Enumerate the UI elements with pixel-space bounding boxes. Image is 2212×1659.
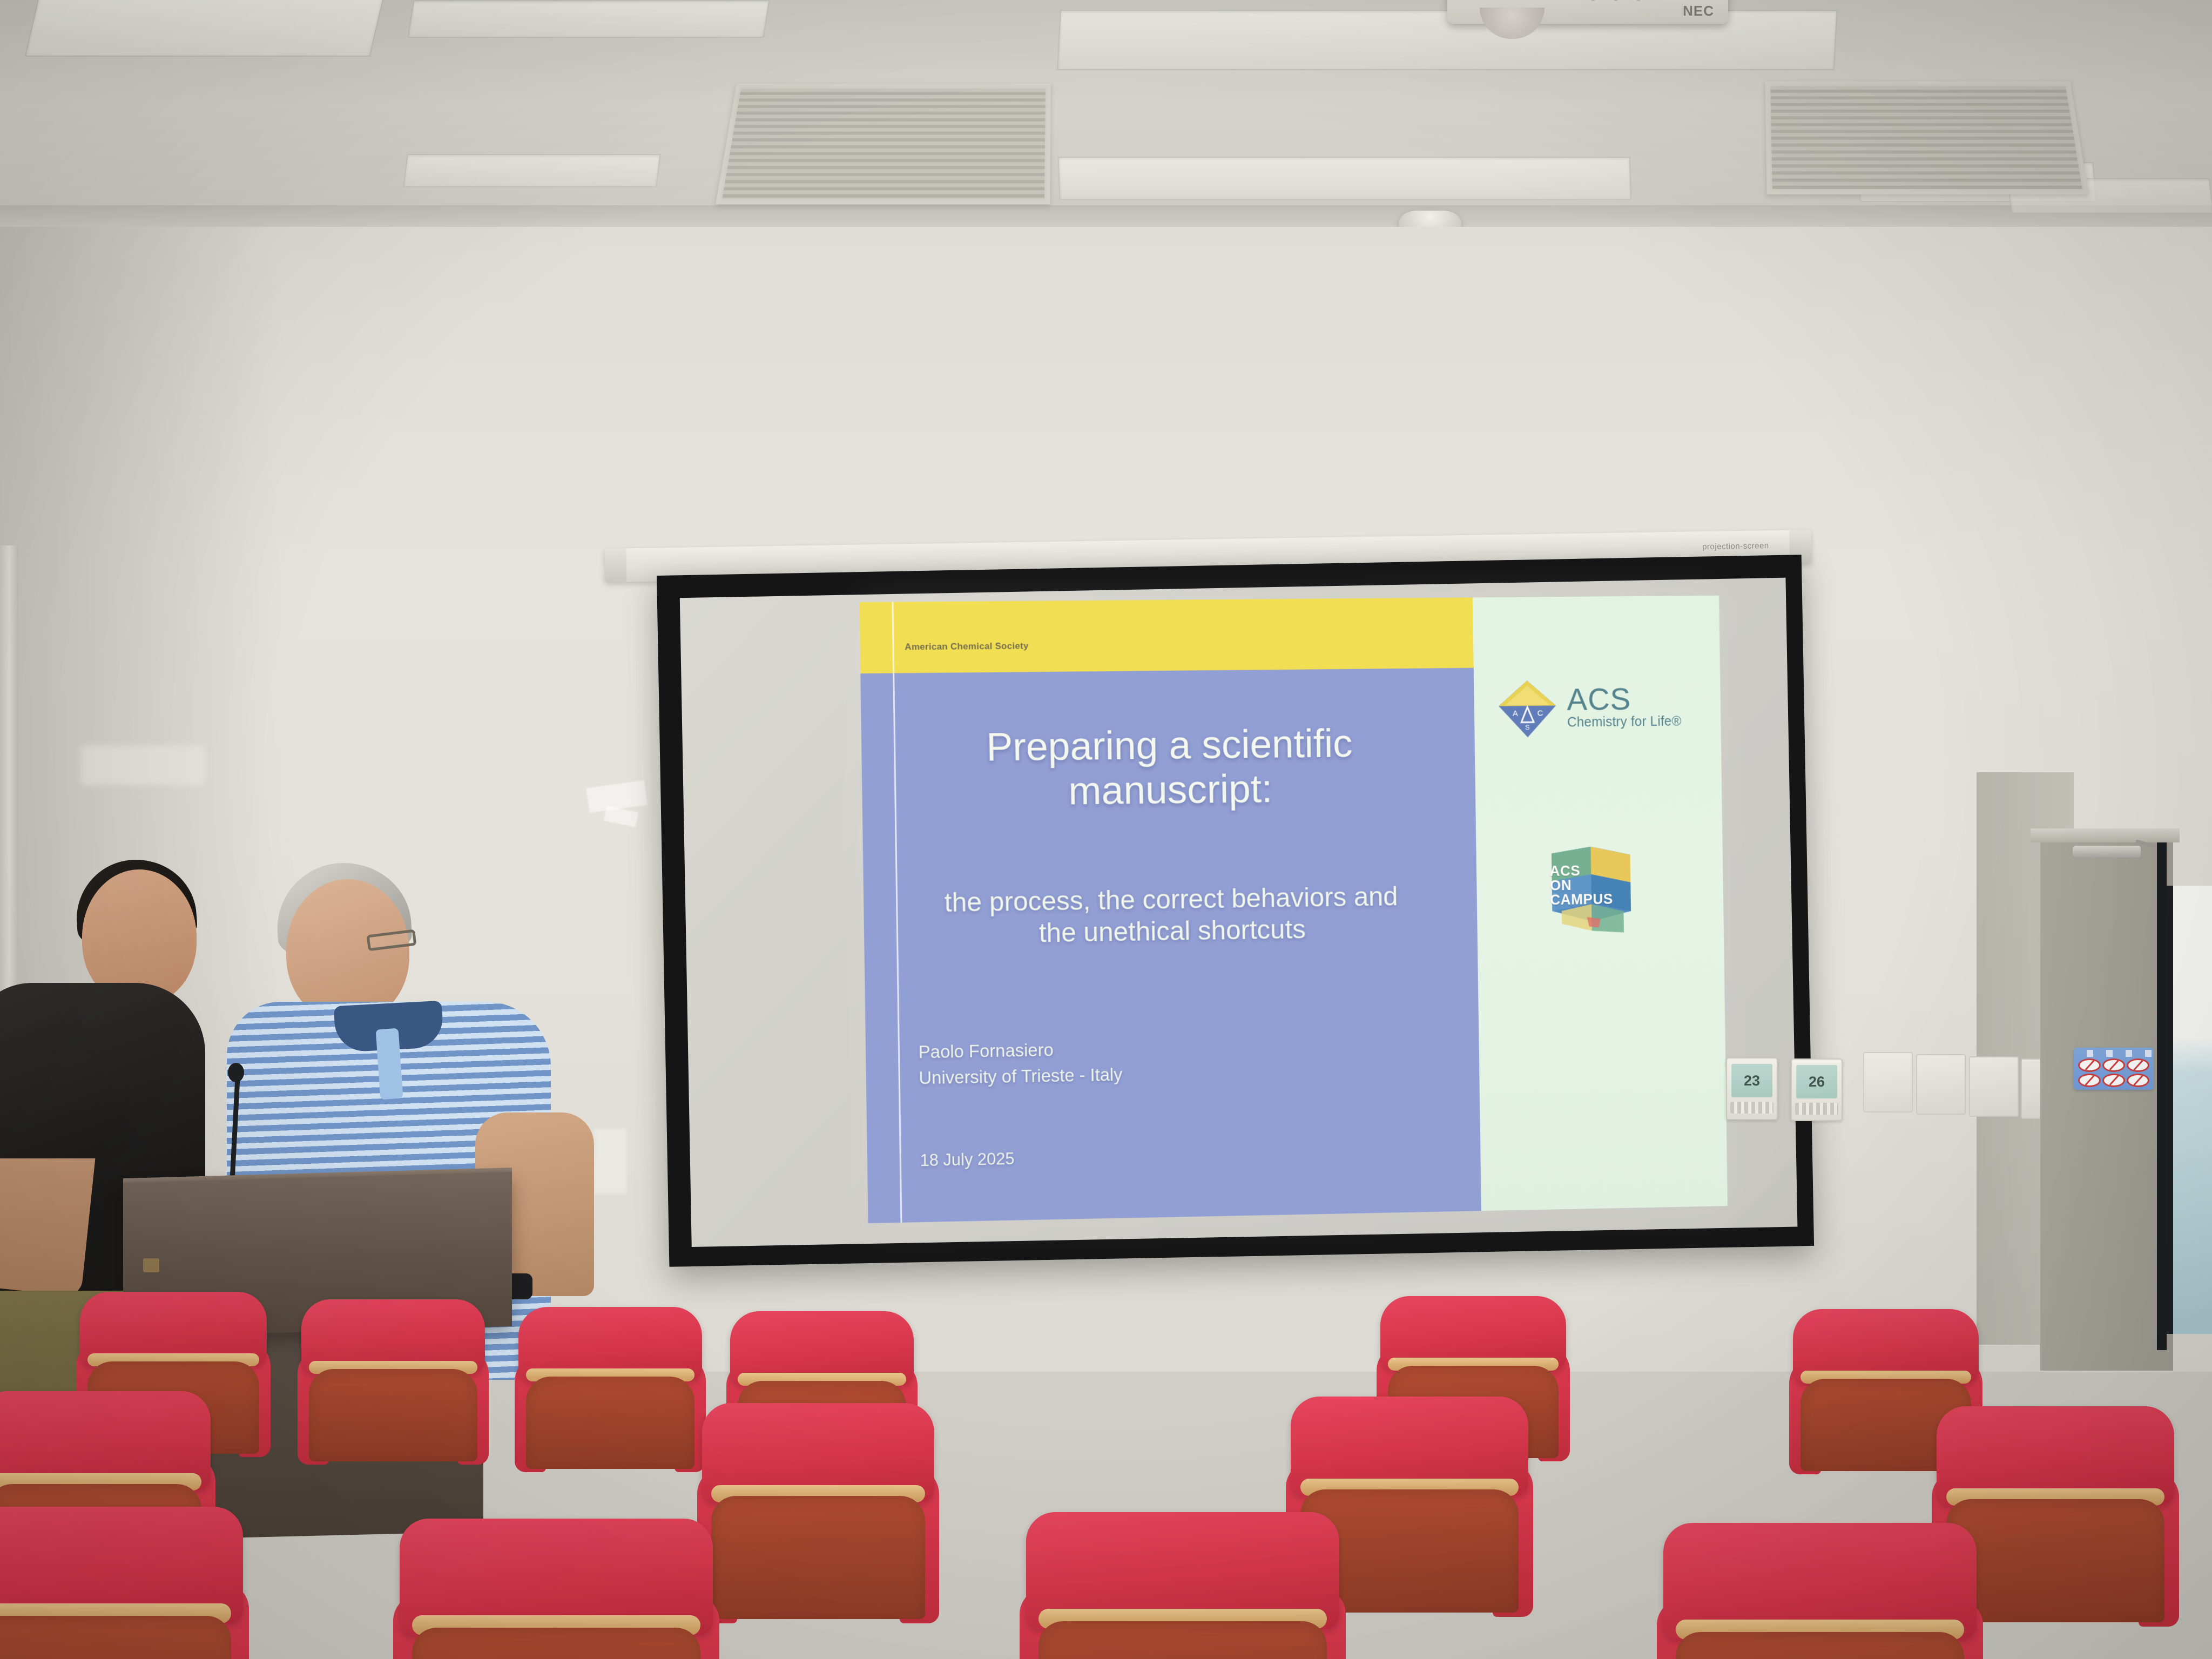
housing-end-cap [605, 548, 627, 582]
hvac-vent-grille [716, 84, 1051, 204]
exit-door[interactable] [2040, 836, 2173, 1371]
seat-back-panel [1946, 1499, 2165, 1622]
thermostat-2-buttons[interactable] [1795, 1103, 1838, 1115]
light-switch-plate[interactable] [1863, 1052, 1913, 1112]
seat-back-panel [526, 1377, 695, 1469]
thermostat-1-buttons[interactable] [1730, 1102, 1773, 1114]
window-glass [2166, 886, 2212, 1334]
acs-logo: A C S ACS Chemistry for Life® [1496, 675, 1681, 740]
seat-front-3[interactable] [1026, 1512, 1339, 1659]
lecture-hall-photo: NEC projection-screen American Chemical … [0, 0, 2212, 1659]
ceiling-light-panel [25, 0, 386, 57]
speaker-right-head [286, 879, 409, 1022]
seat-front-4[interactable] [1663, 1523, 1977, 1659]
hvac-vent-grille [1765, 81, 2088, 194]
seat-back-panel [711, 1496, 925, 1619]
light-switch-plate[interactable] [1969, 1056, 2019, 1117]
acs-wordmark: ACS Chemistry for Life® [1567, 684, 1682, 730]
light-switch-plate[interactable] [1916, 1054, 1966, 1115]
ceiling-light-panel [1058, 157, 1632, 200]
no-pets-icon [2127, 1058, 2149, 1072]
thermostat-panel-2[interactable]: 26 [1791, 1058, 1843, 1121]
microphone-icon [228, 1063, 244, 1082]
ceiling-light-panel [407, 0, 770, 38]
acs-on-campus-label: ACS ON CAMPUS [1549, 864, 1613, 907]
slide-author-name: Paolo Fornasiero [918, 1036, 1122, 1065]
no-smoking-icon [2102, 1058, 2125, 1072]
seat-front-1[interactable] [0, 1507, 243, 1659]
acs-campus-line-3: CAMPUS [1550, 892, 1613, 907]
slide-title-line-1: Preparing a scientific [911, 720, 1427, 771]
slide-org-label: American Chemical Society [905, 640, 1029, 652]
slide-main-panel: American Chemical Society Preparing a sc… [859, 597, 1481, 1223]
podium-marking [143, 1258, 159, 1272]
slide-logo-panel: A C S ACS Chemistry for Life® [1473, 596, 1728, 1211]
seat-back-panel [309, 1369, 478, 1461]
housing-brand-label: projection-screen [1702, 541, 1769, 551]
seat-middle-2[interactable] [702, 1403, 934, 1619]
slide-title: Preparing a scientific manuscript: [911, 720, 1427, 815]
seat-back-panel [1038, 1621, 1327, 1659]
svg-text:A: A [1513, 709, 1519, 718]
projection-screen: American Chemical Society Preparing a sc… [657, 555, 1814, 1267]
slide-yellow-band [859, 597, 1473, 673]
acs-campus-line-1: ACS [1549, 864, 1613, 879]
no-running-icon [2127, 1074, 2149, 1087]
slide-title-line-2: manuscript: [912, 765, 1427, 815]
projector-brand-label: NEC [1683, 3, 1714, 19]
ceiling-light-panel [403, 154, 661, 187]
slide-author-affiliation: University of Trieste - Italy [919, 1062, 1123, 1091]
seat-back-panel [0, 1616, 231, 1659]
sign-icon-grid [2078, 1058, 2149, 1087]
thermostat-panel-1[interactable]: 23 [1726, 1057, 1778, 1120]
seat-back-2[interactable] [301, 1299, 485, 1461]
screen-surface: American Chemical Society Preparing a sc… [680, 578, 1798, 1247]
thermostat-1-display: 23 [1731, 1064, 1772, 1097]
slide-date: 18 July 2025 [920, 1149, 1015, 1170]
acs-diamond-icon: A C S [1496, 676, 1559, 740]
projected-slide: American Chemical Society Preparing a sc… [859, 596, 1727, 1223]
slide-author-block: Paolo Fornasiero University of Trieste -… [918, 1036, 1122, 1091]
no-photos-icon [2078, 1074, 2101, 1087]
no-drinks-icon [2102, 1074, 2125, 1087]
wall-patch [81, 745, 205, 785]
speaker-right-placket [376, 1028, 403, 1100]
projector-controls [1582, 0, 1653, 5]
seat-front-2[interactable] [400, 1519, 713, 1659]
door-closer-icon [2073, 846, 2141, 858]
thermostat-2-display: 26 [1796, 1065, 1837, 1098]
slide-subtitle: the process, the correct behaviors and t… [888, 880, 1453, 951]
svg-text:C: C [1537, 709, 1543, 718]
acs-on-campus-logo: ACS ON CAMPUS [1535, 841, 1647, 941]
wall-patch [594, 1129, 626, 1193]
seat-back-panel [412, 1628, 700, 1659]
acs-tagline: Chemistry for Life® [1567, 713, 1682, 730]
ceiling-projector: NEC [1447, 0, 1728, 24]
svg-text:S: S [1525, 723, 1530, 731]
no-food-icon [2078, 1058, 2101, 1072]
sign-heading [2074, 1050, 2154, 1057]
acs-word: ACS [1567, 684, 1681, 714]
seat-back-3[interactable] [518, 1307, 702, 1469]
seat-back-panel [1676, 1632, 1964, 1659]
prohibition-sign [2074, 1048, 2154, 1090]
door-header [2031, 828, 2180, 842]
speaker-left-sleeve [0, 1056, 130, 1158]
